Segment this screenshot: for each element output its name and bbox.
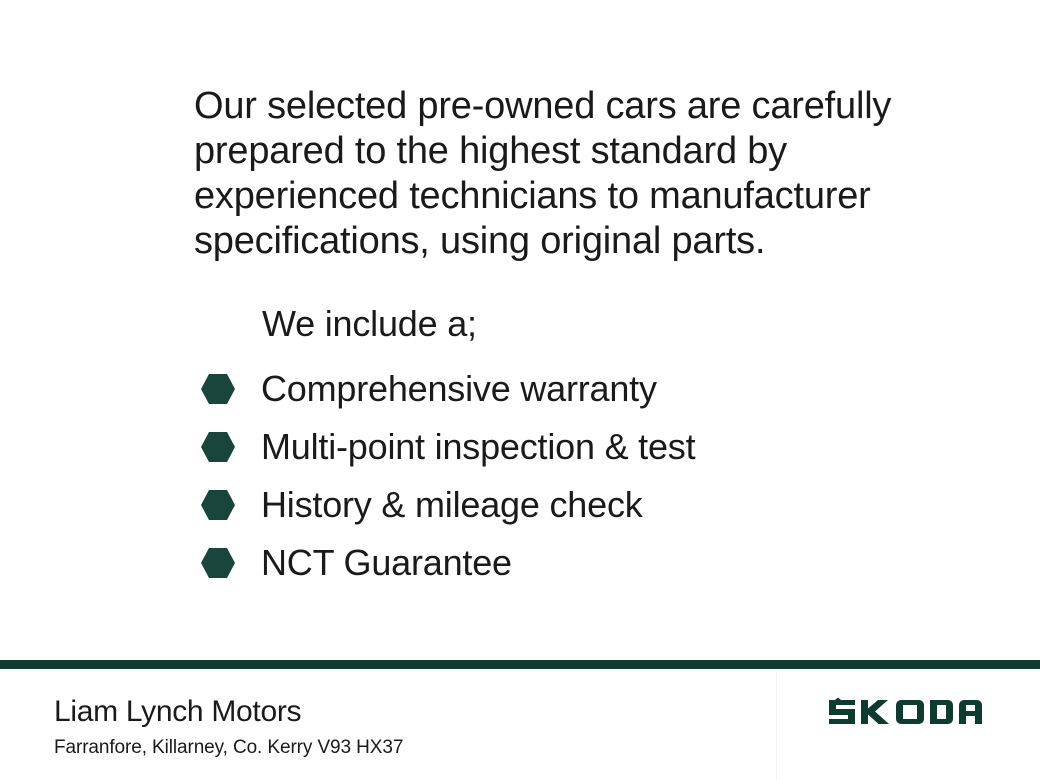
- footer-accent-bar: [0, 660, 1040, 669]
- hexagon-bullet-icon: [200, 373, 236, 405]
- hexagon-bullet-icon: [200, 489, 236, 521]
- list-item: Comprehensive warranty: [200, 360, 900, 418]
- list-item: NCT Guarantee: [200, 534, 900, 592]
- dealer-info: Liam Lynch Motors Farranfore, Killarney,…: [54, 694, 403, 761]
- dealer-name: Liam Lynch Motors: [54, 694, 403, 730]
- include-heading: We include a;: [262, 302, 477, 346]
- slide-canvas: Our selected pre-owned cars are carefull…: [0, 0, 1040, 780]
- skoda-wordmark-logo: [828, 697, 986, 727]
- feature-label: History & mileage check: [261, 485, 643, 525]
- list-item: History & mileage check: [200, 476, 900, 534]
- hexagon-bullet-icon: [200, 431, 236, 463]
- footer-vertical-divider: [776, 672, 777, 780]
- dealer-address: Farranfore, Killarney, Co. Kerry V93 HX3…: [54, 735, 403, 761]
- list-item: Multi-point inspection & test: [200, 418, 900, 476]
- feature-label: Multi-point inspection & test: [261, 427, 695, 467]
- intro-paragraph: Our selected pre-owned cars are carefull…: [194, 84, 894, 264]
- feature-label: Comprehensive warranty: [261, 369, 657, 409]
- feature-label: NCT Guarantee: [261, 543, 512, 583]
- feature-list: Comprehensive warranty Multi-point inspe…: [200, 360, 900, 592]
- hexagon-bullet-icon: [200, 547, 236, 579]
